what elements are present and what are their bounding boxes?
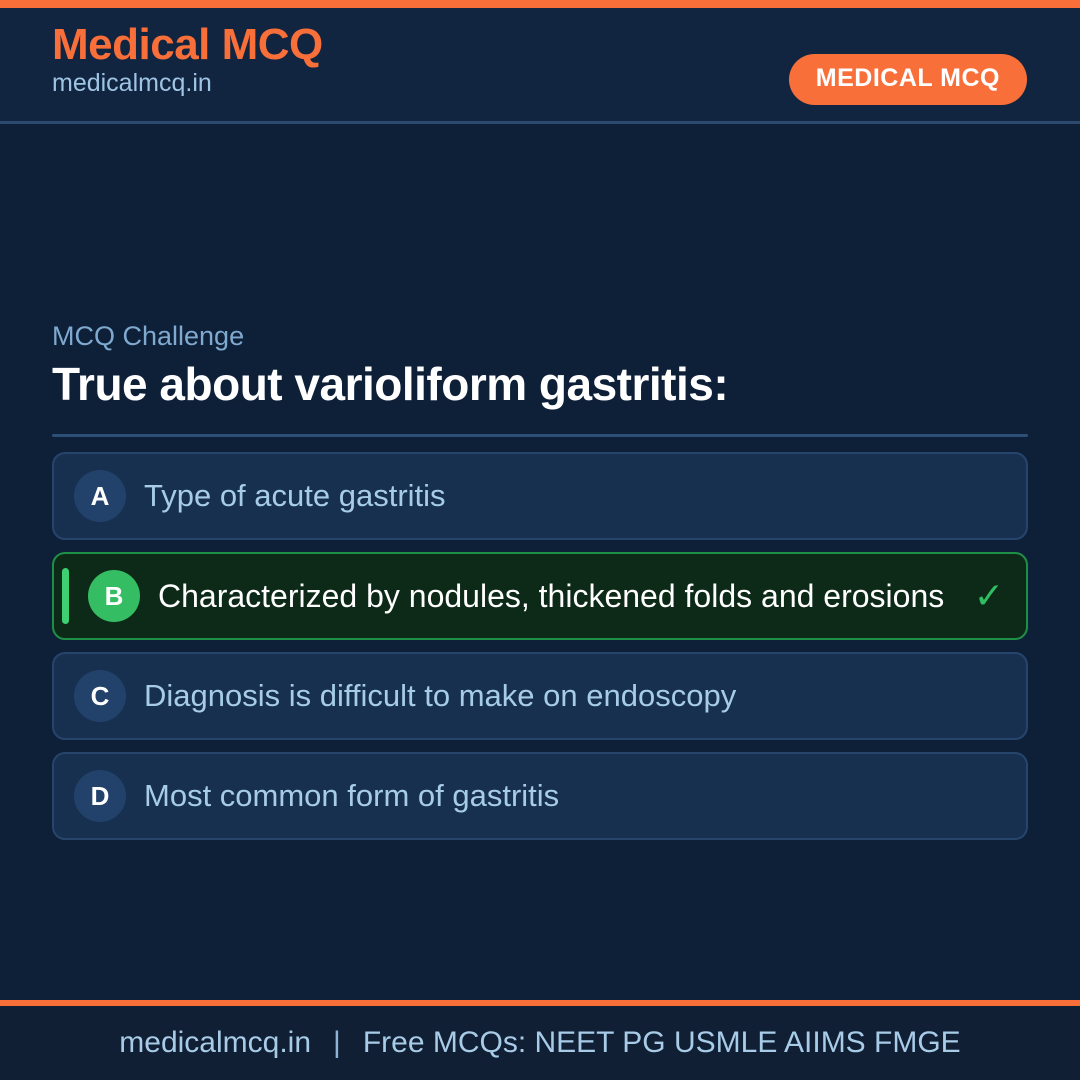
option-a[interactable]: A Type of acute gastritis — [52, 452, 1028, 540]
header-badge: MEDICAL MCQ — [789, 54, 1027, 105]
option-b-text: Characterized by nodules, thickened fold… — [158, 579, 966, 614]
footer-tags: Free MCQs: NEET PG USMLE AIIMS FMGE — [363, 1026, 961, 1060]
brand-title: Medical MCQ — [52, 22, 323, 68]
app-header: Medical MCQ medicalmcq.in MEDICAL MCQ — [0, 8, 1080, 124]
option-b-letter: B — [88, 570, 140, 622]
correct-accent-bar — [62, 568, 69, 624]
check-icon: ✓ — [966, 578, 1012, 614]
option-c[interactable]: C Diagnosis is difficult to make on endo… — [52, 652, 1028, 740]
main-content: MCQ Challenge True about varioliform gas… — [0, 127, 1080, 1000]
footer-site: medicalmcq.in — [119, 1026, 311, 1060]
brand-subtitle: medicalmcq.in — [52, 70, 323, 98]
question-divider — [52, 434, 1028, 437]
option-b[interactable]: B Characterized by nodules, thickened fo… — [52, 552, 1028, 640]
question-block: MCQ Challenge True about varioliform gas… — [52, 320, 1028, 437]
top-accent-bar — [0, 0, 1080, 8]
app-footer: medicalmcq.in | Free MCQs: NEET PG USMLE… — [0, 1000, 1080, 1080]
footer-separator: | — [333, 1026, 341, 1060]
option-d-text: Most common form of gastritis — [144, 779, 966, 812]
option-c-text: Diagnosis is difficult to make on endosc… — [144, 679, 966, 712]
footer-content: medicalmcq.in | Free MCQs: NEET PG USMLE… — [119, 1026, 960, 1060]
option-a-text: Type of acute gastritis — [144, 479, 966, 512]
option-a-letter: A — [74, 470, 126, 522]
question-eyebrow: MCQ Challenge — [52, 320, 1028, 352]
option-d[interactable]: D Most common form of gastritis — [52, 752, 1028, 840]
options-list: A Type of acute gastritis B Characterize… — [52, 452, 1028, 852]
question-text: True about varioliform gastritis: — [52, 358, 1028, 411]
brand: Medical MCQ medicalmcq.in — [52, 22, 323, 98]
option-c-letter: C — [74, 670, 126, 722]
option-d-letter: D — [74, 770, 126, 822]
